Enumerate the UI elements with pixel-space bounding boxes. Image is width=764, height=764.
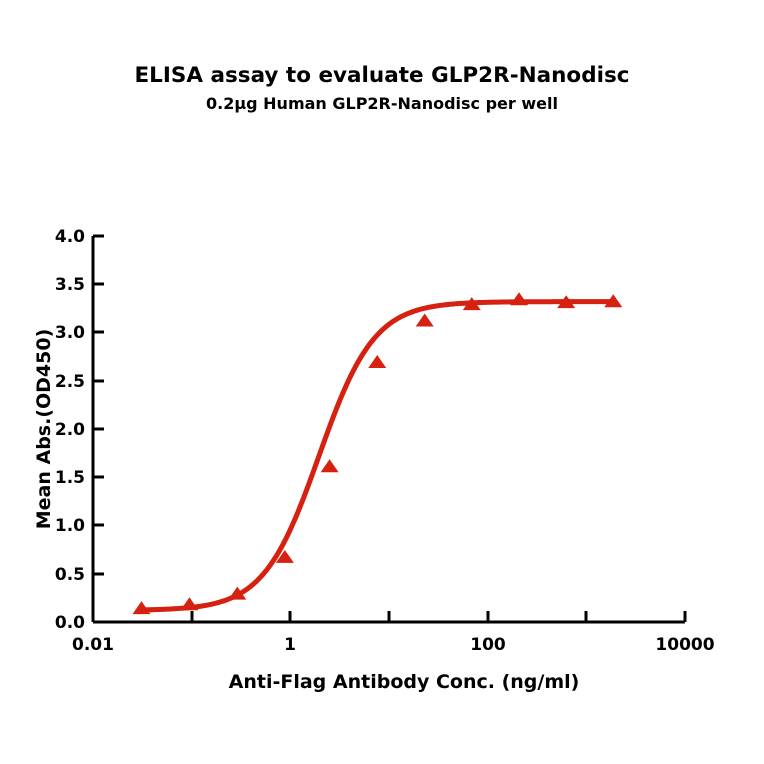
data-point	[510, 292, 528, 305]
y-tick-label: 1.5	[55, 468, 85, 488]
x-axis-title: Anti-Flag Antibody Conc. (ng/ml)	[229, 671, 580, 693]
y-tick-label: 1.0	[55, 516, 85, 536]
y-tick-label: 0.5	[55, 565, 85, 585]
y-tick-label: 3.5	[55, 275, 85, 295]
y-tick-label: 2.5	[55, 372, 85, 392]
y-tick-label: 3.0	[55, 323, 85, 343]
axis-lines	[93, 236, 685, 622]
data-point	[180, 597, 198, 610]
data-markers	[132, 292, 622, 614]
data-point	[416, 314, 434, 327]
x-tick-label: 10000	[655, 635, 714, 655]
x-axis-tick-labels: 0.01 1 100 10000	[72, 635, 715, 655]
x-tick-label: 100	[470, 635, 506, 655]
y-axis-ticks	[93, 236, 104, 622]
data-point	[321, 459, 339, 472]
y-axis-title: Mean Abs.(OD450)	[33, 329, 55, 530]
plot-area: 4.0 3.5 3.0 2.5 2.0 1.5 1.0 0.5 0.0 0.01…	[0, 0, 764, 764]
y-tick-label: 2.0	[55, 420, 85, 440]
x-axis-ticks	[93, 611, 685, 622]
x-tick-label: 0.01	[72, 635, 114, 655]
chart-figure: ELISA assay to evaluate GLP2R-Nanodisc 0…	[0, 0, 764, 764]
y-axis-tick-labels: 4.0 3.5 3.0 2.5 2.0 1.5 1.0 0.5 0.0	[55, 227, 85, 633]
y-tick-label: 0.0	[55, 613, 85, 633]
y-tick-label: 4.0	[55, 227, 85, 247]
x-tick-label: 1	[284, 635, 296, 655]
fit-curve	[141, 302, 613, 610]
data-point	[368, 355, 386, 368]
